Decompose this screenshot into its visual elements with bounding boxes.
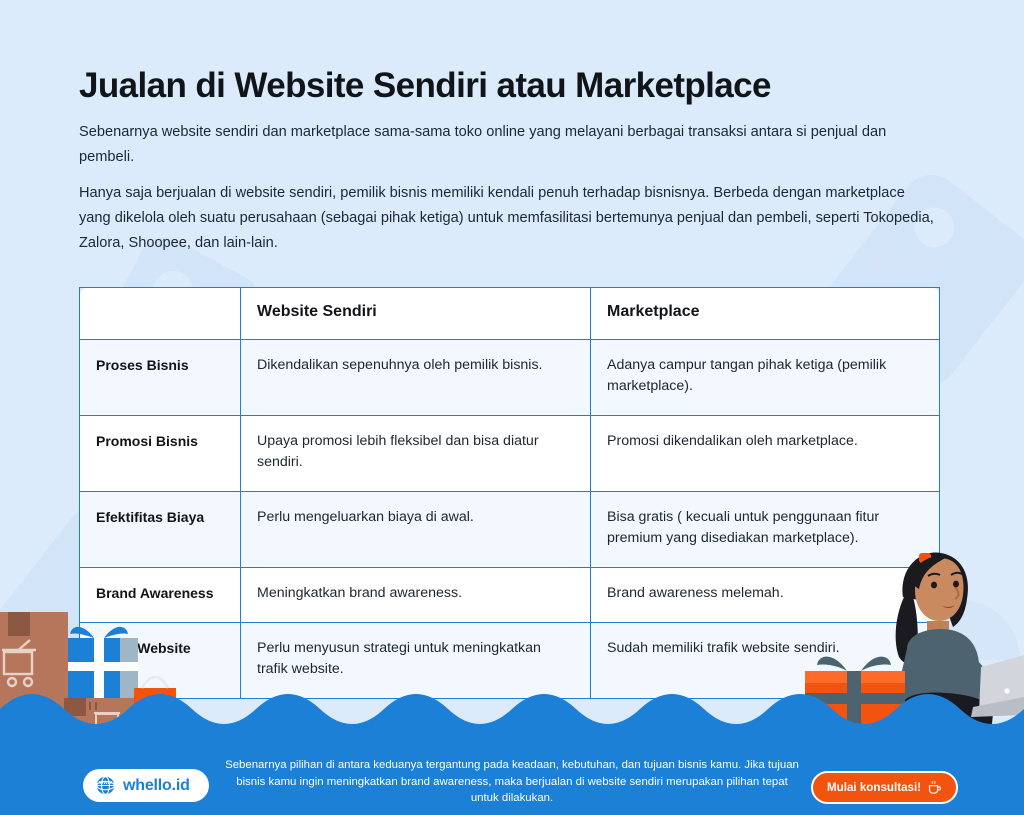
row-label-efektifitas-biaya: Efektifitas Biaya: [80, 492, 241, 568]
mulai-konsultasi-button[interactable]: Mulai konsultasi!: [811, 771, 958, 804]
cell-website-proses-bisnis: Dikendalikan sepenuhnya oleh pemilik bis…: [241, 340, 591, 416]
table-body: Proses Bisnis Dikendalikan sepenuhnya ol…: [80, 340, 940, 699]
row-label-proses-bisnis: Proses Bisnis: [80, 340, 241, 416]
intro-paragraph-2: Hanya saja berjualan di website sendiri,…: [79, 181, 935, 256]
cell-website-brand-awareness: Meningkatkan brand awareness.: [241, 568, 591, 623]
footer-summary-text: Sebenarnya pilihan di antara keduanya te…: [222, 757, 802, 807]
table-row: Efektifitas Biaya Perlu mengeluarkan bia…: [80, 492, 940, 568]
cell-marketplace-brand-awareness: Brand awareness melemah.: [591, 568, 940, 623]
cell-marketplace-proses-bisnis: Adanya campur tangan pihak ketiga (pemil…: [591, 340, 940, 416]
cell-website-promosi-bisnis: Upaya promosi lebih fleksibel dan bisa d…: [241, 416, 591, 492]
comparison-table: Website Sendiri Marketplace Proses Bisni…: [79, 287, 940, 699]
table-header: Website Sendiri Marketplace: [80, 288, 940, 340]
table-header-row: Website Sendiri Marketplace: [80, 288, 940, 340]
svg-text:www: www: [98, 780, 113, 786]
whello-brand-label: whello.id: [123, 777, 190, 795]
table-header-website-sendiri: Website Sendiri: [241, 288, 591, 340]
cell-marketplace-efektifitas-biaya: Bisa gratis ( kecuali untuk penggunaan f…: [591, 492, 940, 568]
table-row: Proses Bisnis Dikendalikan sepenuhnya ol…: [80, 340, 940, 416]
infographic-page: % % Jualan di Website Sendiri atau Marke…: [0, 0, 1024, 815]
row-label-promosi-bisnis: Promosi Bisnis: [80, 416, 241, 492]
globe-www-icon: www: [96, 776, 115, 795]
coffee-cup-icon: [927, 780, 942, 795]
table-row: Promosi Bisnis Upaya promosi lebih fleks…: [80, 416, 940, 492]
cell-website-efektifitas-biaya: Perlu mengeluarkan biaya di awal.: [241, 492, 591, 568]
whello-logo[interactable]: www whello.id: [83, 769, 209, 802]
table-row: Brand Awareness Meningkatkan brand aware…: [80, 568, 940, 623]
row-label-brand-awareness: Brand Awareness: [80, 568, 241, 623]
wave-divider: [0, 679, 1024, 739]
cell-marketplace-promosi-bisnis: Promosi dikendalikan oleh marketplace.: [591, 416, 940, 492]
page-title: Jualan di Website Sendiri atau Marketpla…: [79, 66, 771, 106]
comparison-table-wrapper: Website Sendiri Marketplace Proses Bisni…: [79, 287, 939, 699]
table-header-marketplace: Marketplace: [591, 288, 940, 340]
intro-paragraph-1: Sebenarnya website sendiri dan marketpla…: [79, 120, 935, 170]
table-header-blank: [80, 288, 241, 340]
cta-label: Mulai konsultasi!: [827, 781, 921, 794]
